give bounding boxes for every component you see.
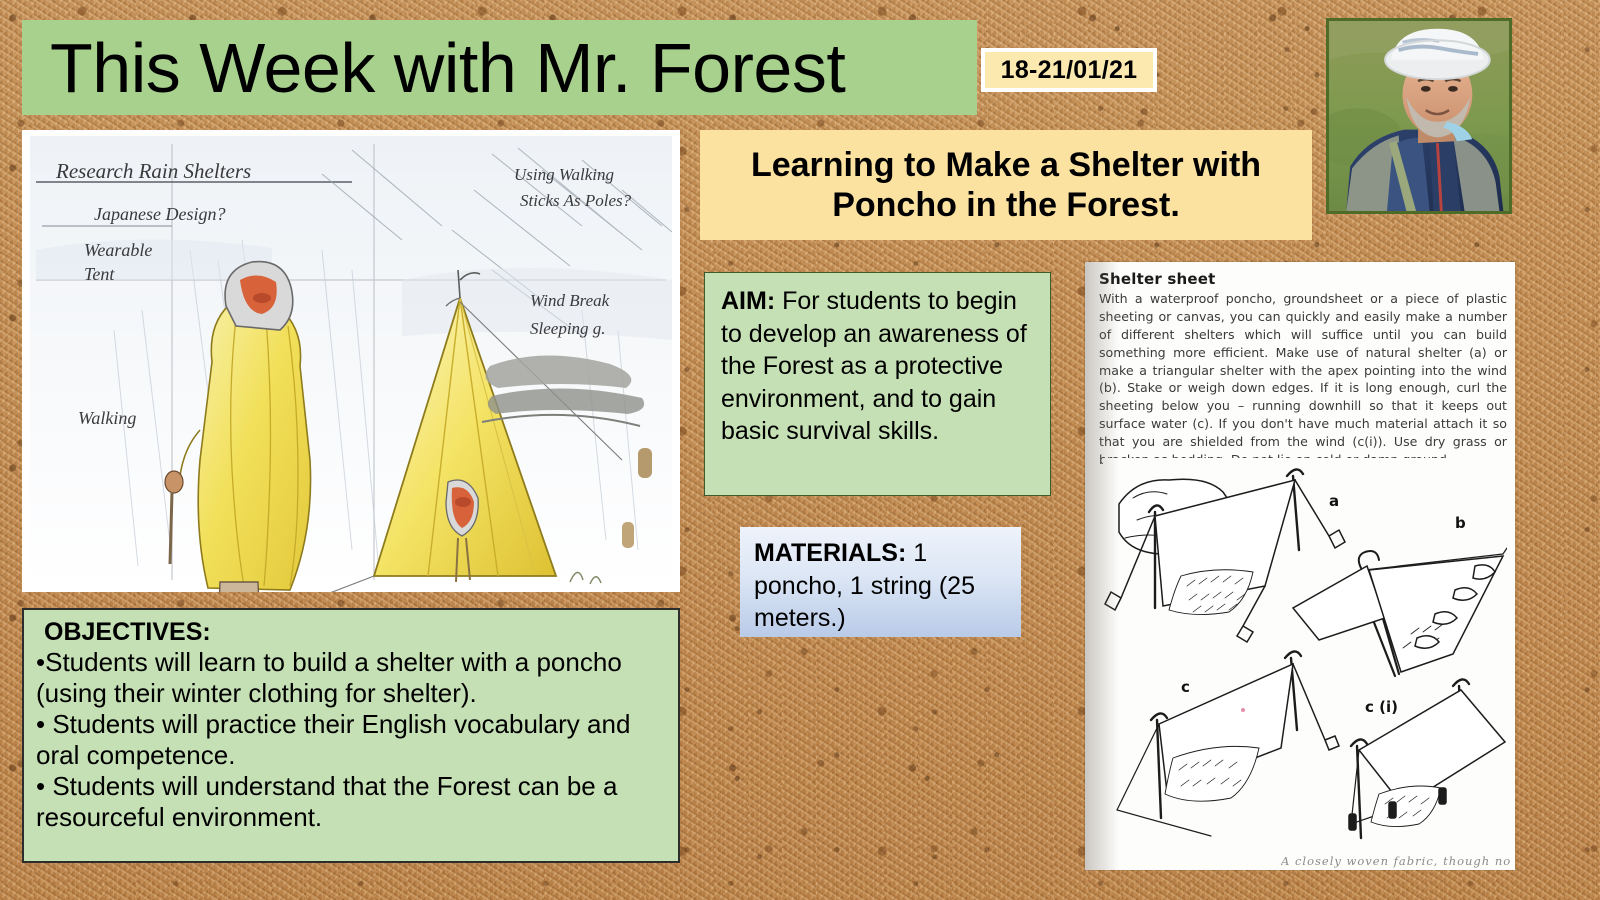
- shelter-sheet-text-block: Shelter sheet With a waterproof poncho, …: [1099, 270, 1507, 469]
- shelter-sheet-caption: A closely woven fabric, though not: [1281, 854, 1511, 868]
- objectives-item: • Students will practice their English v…: [36, 709, 666, 771]
- sketch-annotation-1: Research Rain Shelters: [55, 159, 251, 183]
- sketch-annotation-6: Wind Break: [530, 291, 610, 310]
- shelter-diagram-image: a b: [1103, 458, 1507, 846]
- lesson-heading: Learning to Make a Shelter with Poncho i…: [700, 130, 1312, 240]
- objectives-box: OBJECTIVES: •Students will learn to buil…: [22, 608, 680, 863]
- diagram-label-ci: c (i): [1365, 698, 1398, 716]
- objectives-item: • Students will understand that the Fore…: [36, 771, 666, 833]
- sketch-annotation-2: Japanese Design?: [94, 204, 225, 224]
- diagram-label-a: a: [1329, 492, 1339, 510]
- diagram-label-c: c: [1181, 678, 1190, 696]
- shelter-sheet-diagram: a b: [1103, 458, 1507, 846]
- poncho-shelter-sketch-image: Research Rain Shelters Japanese Design? …: [22, 130, 680, 592]
- diagram-label-b: b: [1455, 514, 1466, 532]
- sketch-annotation-3b: Tent: [84, 264, 115, 284]
- aim-box: AIM: For students to begin to develop an…: [704, 272, 1051, 496]
- shelter-sheet-scan: Shelter sheet With a waterproof poncho, …: [1085, 262, 1515, 870]
- sketch-annotation-5b: Sticks As Poles?: [520, 191, 632, 210]
- date-badge-label: 18-21/01/21: [1001, 56, 1138, 85]
- materials-text: MATERIALS: 1 poncho, 1 string (25 meters…: [754, 537, 1009, 635]
- date-badge: 18-21/01/21: [981, 48, 1157, 92]
- page-title: This Week with Mr. Forest: [22, 33, 845, 103]
- slide-title-banner: This Week with Mr. Forest: [22, 20, 977, 115]
- sketch-annotation-6b: Sleeping g.: [530, 319, 606, 338]
- teacher-photo: [1326, 18, 1512, 214]
- materials-box: MATERIALS: 1 poncho, 1 string (25 meters…: [740, 527, 1021, 637]
- lesson-heading-text: Learning to Make a Shelter with Poncho i…: [700, 145, 1312, 225]
- sketch-annotation-5: Using Walking: [514, 165, 614, 184]
- teacher-photo-image: [1329, 21, 1509, 211]
- sketch-annotation-3: Wearable: [84, 240, 152, 260]
- shelter-sheet-body: With a waterproof poncho, groundsheet or…: [1099, 290, 1507, 469]
- aim-label: AIM:: [721, 287, 775, 315]
- sketch-annotation-4: Walking: [78, 408, 136, 428]
- poncho-shelter-sketch: Research Rain Shelters Japanese Design? …: [22, 130, 680, 592]
- objectives-item: •Students will learn to build a shelter …: [36, 647, 666, 709]
- objectives-heading: OBJECTIVES:: [36, 618, 666, 647]
- shelter-sheet-title: Shelter sheet: [1099, 270, 1507, 288]
- aim-text: AIM: For students to begin to develop an…: [721, 285, 1036, 448]
- materials-label: MATERIALS:: [754, 539, 906, 567]
